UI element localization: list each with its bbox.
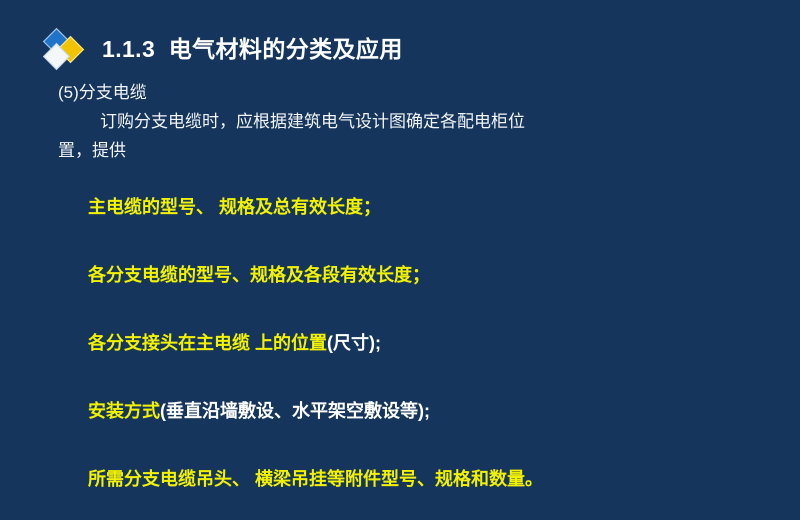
page-title: 1.1.3 电气材料的分类及应用 — [102, 38, 403, 61]
bullet-line-1: 主电缆的型号、 规格及总有效长度； — [58, 180, 758, 234]
bullet-line-2-text: 各分支电缆的型号、规格及各段有效长度； — [88, 265, 430, 285]
bullet-line-4-text: 安装方式 — [88, 401, 160, 421]
slide-canvas: 1.1.3 电气材料的分类及应用 (5)分支电缆 订购分支电缆时，应根据建筑电气… — [0, 0, 800, 450]
bullet-line-4: 安装方式(垂直沿墙敷设、水平架空敷设等); — [58, 384, 758, 438]
slide-header: 1.1.3 电气材料的分类及应用 — [0, 26, 800, 72]
bullet-line-1-text: 主电缆的型号、 规格及总有效长度； — [88, 197, 381, 217]
body-paragraph-line-2: 置，提供 — [58, 142, 758, 159]
bullet-line-4-paren: (垂直沿墙敷设、水平架空敷设等); — [160, 401, 430, 421]
bullet-line-3-text: 各分支接头在主电缆 上的位置 — [88, 333, 327, 353]
bullet-line-5: 所需分支电缆吊头、 横梁吊挂等附件型号、规格和数量。 — [58, 452, 758, 506]
body-spacer — [58, 171, 758, 180]
body-heading: (5)分支电缆 — [58, 84, 758, 101]
bullet-line-5-text: 所需分支电缆吊头、 横梁吊挂等附件型号、规格和数量。 — [88, 469, 543, 489]
bullet-line-2: 各分支电缆的型号、规格及各段有效长度； — [58, 248, 758, 302]
bullet-line-3: 各分支接头在主电缆 上的位置(尺寸); — [58, 316, 758, 370]
body-paragraph-line-1: 订购分支电缆时，应根据建筑电气设计图确定各配电柜位 — [58, 113, 758, 130]
diamond-logo-icon — [46, 28, 92, 70]
slide-body: (5)分支电缆 订购分支电缆时，应根据建筑电气设计图确定各配电柜位 置，提供 主… — [58, 84, 758, 520]
bullet-line-3-paren: (尺寸); — [327, 333, 381, 353]
